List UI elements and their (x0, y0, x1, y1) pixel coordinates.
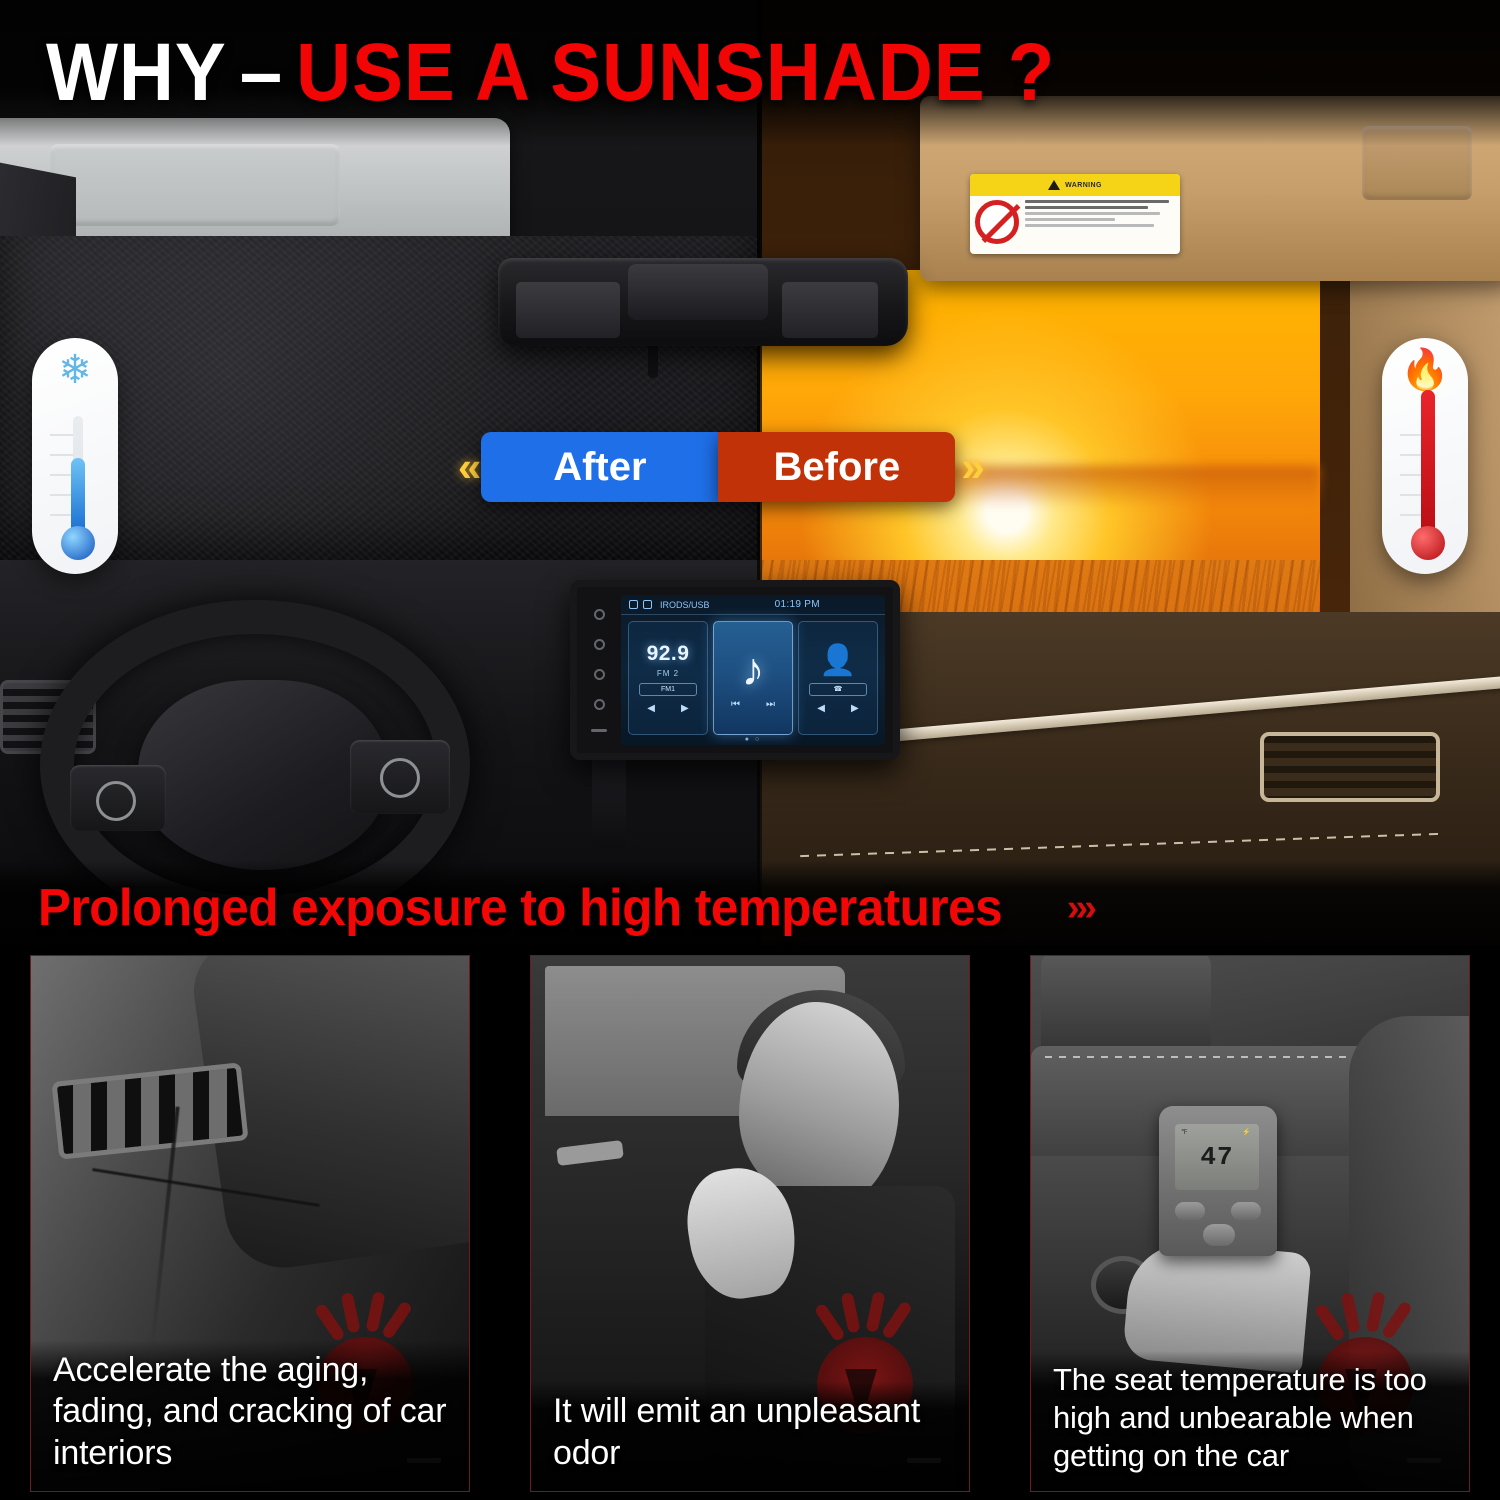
settings-icon (643, 600, 652, 609)
before-after-comparison: WARNING (0, 0, 1500, 945)
air-vent-right-icon (1260, 732, 1440, 802)
home-button-icon[interactable] (594, 699, 605, 710)
phone-tile[interactable]: 👤 ☎ ◀ ▶ (798, 621, 878, 735)
flame-icon: 🔥 (1382, 350, 1468, 390)
before-after-badges: « After Before » (458, 432, 979, 502)
volume-knob-icon[interactable] (594, 639, 605, 650)
head-unit-status-bar: IRODS/USB 01:19 PM (621, 595, 885, 615)
source-label: IRODS/USB (660, 600, 710, 610)
infotainment-head-unit[interactable]: IRODS/USB 01:19 PM 92.9 FM 2 FM1 ◀ ▶ (570, 580, 900, 760)
mirror-reflection-right-seat (782, 282, 878, 338)
warning-label-body (970, 196, 1180, 248)
radio-seek-controls[interactable]: ◀ ▶ (647, 703, 688, 714)
phone-nav-controls[interactable]: ◀ ▶ (817, 703, 858, 714)
mirror-reflection-left-seat (516, 282, 620, 338)
head-unit-side-buttons[interactable] (583, 599, 615, 741)
menu-button-icon[interactable] (594, 669, 605, 680)
radio-preset-button[interactable]: FM1 (639, 683, 697, 696)
warning-heading-text: WARNING (1065, 182, 1102, 189)
head-unit-mount (592, 756, 626, 848)
thermometer-bulb (1411, 526, 1445, 560)
panel-seat-temperature: ℉ ⚡ 47 (1000, 945, 1500, 1500)
power-button-icon[interactable] (594, 609, 605, 620)
no-rear-facing-child-seat-icon (975, 200, 1019, 244)
phone-next-icon[interactable]: ▶ (851, 703, 859, 714)
media-transport-controls[interactable]: ⏮ ⏭ (731, 699, 775, 710)
before-badge: Before (718, 432, 955, 502)
lcd-mode-label: ⚡ (1242, 1128, 1251, 1136)
thermometer-bulb (61, 526, 95, 560)
chevron-triple-right-icon: ››› (1067, 887, 1093, 930)
heat-warning-text: Prolonged exposure to high temperatures (38, 878, 1002, 938)
steering-control-right-icon (350, 740, 450, 814)
chevron-left-icon: « (458, 446, 475, 488)
title-bar: WHY–USE A SUNSHADE ? (0, 0, 1500, 146)
hot-thermometer: 🔥 (1382, 338, 1468, 574)
warning-triangle-icon (1048, 180, 1060, 190)
panel-caption: Accelerate the aging, fading, and cracki… (31, 1340, 469, 1491)
cracked-dashboard-photo: Accelerate the aging, fading, and cracki… (30, 955, 470, 1492)
infrared-thermometer-gun: ℉ ⚡ 47 (1159, 1106, 1277, 1256)
media-prev-icon[interactable]: ⏮ (731, 699, 740, 710)
warning-label-heading: WARNING (970, 174, 1180, 196)
title-highlight: USE A SUNSHADE ? (296, 27, 1055, 118)
head-unit-tiles: 92.9 FM 2 FM1 ◀ ▶ ♪ ⏮ ⏭ (621, 615, 885, 739)
dashcam-module (628, 264, 768, 320)
status-bar-icons (629, 600, 652, 609)
clock-label: 01:19 PM (775, 599, 820, 610)
seek-prev-icon[interactable]: ◀ (647, 703, 655, 714)
panel-aging: Accelerate the aging, fading, and cracki… (0, 945, 500, 1500)
airbag-warning-label: WARNING (970, 174, 1180, 254)
seek-next-icon[interactable]: ▶ (681, 703, 689, 714)
page-indicator-dots: ● ○ (621, 736, 885, 743)
radio-tile[interactable]: 92.9 FM 2 FM1 ◀ ▶ (628, 621, 708, 735)
dashboard-stitching (800, 833, 1440, 857)
steering-control-left-icon (70, 765, 166, 831)
consequence-panels: Accelerate the aging, fading, and cracki… (0, 945, 1500, 1500)
panel-caption: The seat temperature is too high and unb… (1031, 1351, 1469, 1491)
cold-thermometer: ❄ (32, 338, 118, 574)
thermometer-trigger-button (1203, 1224, 1235, 1246)
temperature-reading: 47 (1200, 1142, 1233, 1172)
bluetooth-icon (629, 600, 638, 609)
radio-frequency: 92.9 (647, 642, 690, 666)
infographic-page: WARNING (0, 0, 1500, 1500)
lcd-unit-label: ℉ (1181, 1128, 1188, 1136)
panel-odor: It will emit an unpleasant odor (500, 945, 1000, 1500)
man-covering-nose-photo: It will emit an unpleasant odor (530, 955, 970, 1492)
chevron-right-icon: » (961, 446, 978, 488)
title-lead: WHY (46, 27, 227, 118)
snowflake-icon: ❄ (32, 350, 118, 390)
after-badge: After (481, 432, 718, 502)
thermometer-mercury-fill (1421, 390, 1435, 542)
eject-button-icon[interactable] (591, 729, 607, 732)
music-note-icon: ♪ (742, 646, 765, 692)
infrared-thermometer-photo: ℉ ⚡ 47 (1030, 955, 1470, 1492)
media-tile[interactable]: ♪ ⏮ ⏭ (713, 621, 793, 735)
rear-view-mirror (498, 258, 908, 346)
title-dash: – (227, 27, 296, 118)
thermometer-button-left (1175, 1202, 1205, 1220)
panel-caption: It will emit an unpleasant odor (531, 1381, 969, 1491)
head-unit-screen[interactable]: IRODS/USB 01:19 PM 92.9 FM 2 FM1 ◀ ▶ (621, 595, 885, 745)
thermometer-button-right (1231, 1202, 1261, 1220)
thermometer-lcd-screen: ℉ ⚡ 47 (1175, 1124, 1259, 1190)
phone-prev-icon[interactable]: ◀ (817, 703, 825, 714)
media-next-icon[interactable]: ⏭ (766, 699, 775, 710)
page-title: WHY–USE A SUNSHADE ? (46, 32, 1055, 114)
heat-warning-banner: Prolonged exposure to high temperatures … (0, 860, 1500, 945)
person-icon: 👤 (819, 643, 856, 678)
warning-label-text-lines (1025, 200, 1175, 244)
radio-band: FM 2 (657, 669, 679, 678)
phone-call-button[interactable]: ☎ (809, 683, 867, 696)
